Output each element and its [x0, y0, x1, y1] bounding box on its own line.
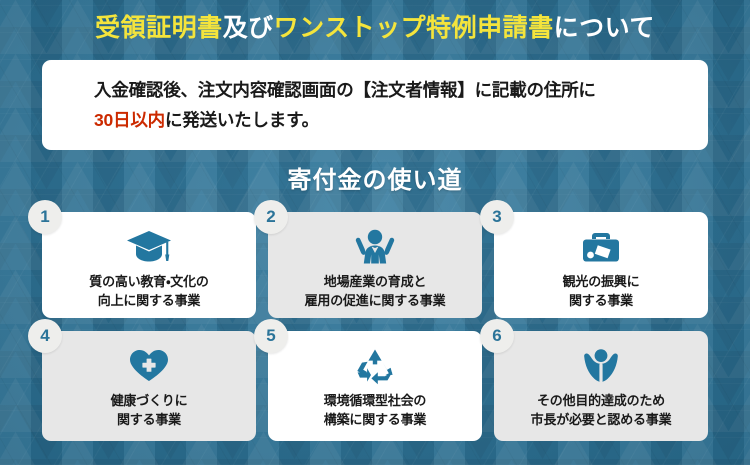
use-card-1-label-line-1: 質の高い教育・文化の — [89, 272, 208, 291]
use-card-4-label-line-2: 関する事業 — [111, 410, 188, 429]
notice-line-1: 入金確認後、注文内容確認画面の【注文者情報】に記載の住所に — [94, 75, 708, 105]
shipping-notice-card: 入金確認後、注文内容確認画面の【注文者情報】に記載の住所に 30日以内に発送いた… — [42, 60, 708, 150]
use-card-4-label: 健康づくりに 関する事業 — [111, 391, 188, 429]
graduation-cap-icon — [126, 228, 172, 266]
use-card-6-label-line-2: 市長が必要と認める事業 — [531, 410, 672, 429]
page-title: 受領証明書及びワンストップ特例申請書について — [0, 10, 750, 46]
use-card-1-label: 質の高い教育・文化の 向上に関する事業 — [89, 272, 208, 310]
page-title-part-4: について — [554, 14, 655, 42]
use-card-6-label: その他目的達成のため 市長が必要と認める事業 — [531, 391, 672, 429]
use-card-4-label-line-1: 健康づくりに — [111, 391, 188, 410]
person-in-hands-icon — [582, 347, 620, 385]
use-card-2-number-badge: 2 — [254, 200, 288, 234]
use-card-2-label: 地場産業の育成と 雇用の促進に関する事業 — [305, 272, 446, 310]
use-card-5-label: 環境循環型社会の 構築に関する事業 — [324, 391, 426, 429]
use-card-3-label: 観光の振興に 関する事業 — [563, 272, 640, 310]
use-card-3[interactable]: 3 観光の振興に 関する事業 — [494, 212, 708, 318]
use-card-2[interactable]: 2 地場産業の育成と 雇用の促進に関する事業 — [268, 212, 482, 318]
section-heading-donation-uses: 寄付金の使い道 — [0, 160, 750, 195]
use-card-4[interactable]: 4 健康づくりに 関する事業 — [42, 331, 256, 441]
person-raised-arms-icon — [353, 228, 397, 266]
page-title-part-1: 受領証明書 — [95, 14, 223, 42]
page-title-part-2: 及び — [223, 14, 274, 42]
use-card-1-label-line-2: 向上に関する事業 — [89, 291, 208, 310]
use-card-4-number-badge: 4 — [28, 319, 62, 353]
use-card-3-label-line-2: 関する事業 — [563, 291, 640, 310]
use-card-5-label-line-2: 構築に関する事業 — [324, 410, 426, 429]
use-card-5[interactable]: 5 環境循環型社会の 構築に関する事業 — [268, 331, 482, 441]
promo-banner: 受領証明書及びワンストップ特例申請書について 入金確認後、注文内容確認画面の【注… — [0, 0, 750, 465]
notice-line-2: 30日以内に発送いたします。 — [94, 105, 708, 135]
notice-line-2-rest: に発送いたします。 — [165, 110, 319, 130]
use-card-6-number-badge: 6 — [480, 319, 514, 353]
suitcase-camera-icon — [579, 228, 623, 266]
notice-highlight-deadline: 30日以内 — [94, 110, 165, 130]
heart-plus-icon — [128, 347, 170, 385]
use-card-1[interactable]: 1 質の高い教育・文化の 向上に関する事業 — [42, 212, 256, 318]
use-card-1-number-badge: 1 — [28, 200, 62, 234]
page-title-part-3: ワンストップ特例申請書 — [274, 14, 554, 42]
recycle-icon — [354, 347, 396, 385]
use-card-3-label-line-1: 観光の振興に — [563, 272, 640, 291]
donation-uses-grid: 1 質の高い教育・文化の 向上に関する事業 2 — [42, 212, 708, 441]
use-card-2-label-line-2: 雇用の促進に関する事業 — [305, 291, 446, 310]
use-card-6-label-line-1: その他目的達成のため — [531, 391, 672, 410]
use-card-2-label-line-1: 地場産業の育成と — [305, 272, 446, 291]
use-card-3-number-badge: 3 — [480, 200, 514, 234]
use-card-6[interactable]: 6 その他目的達成のため 市長が必要と認める事業 — [494, 331, 708, 441]
use-card-5-number-badge: 5 — [254, 319, 288, 353]
use-card-5-label-line-1: 環境循環型社会の — [324, 391, 426, 410]
